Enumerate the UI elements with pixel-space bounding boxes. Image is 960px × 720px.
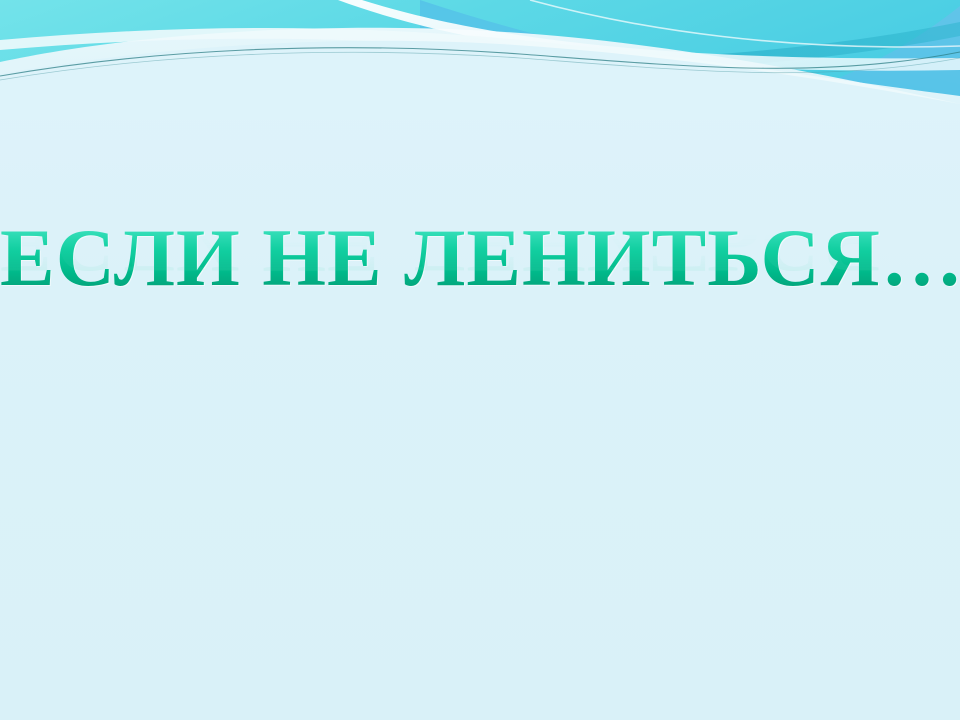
wave-teal-stroke <box>250 22 960 74</box>
wave-white-ribbon-lower <box>0 28 960 106</box>
wave-white-ribbon-upper <box>338 0 960 71</box>
wave-banner-svg <box>0 0 960 120</box>
wave-base-band <box>0 0 960 120</box>
slide-canvas: ЕСЛИ НЕ ЛЕНИТЬСЯ… ЕСЛИ НЕ ЛЕНИТЬСЯ… <box>0 0 960 720</box>
wave-right-blue <box>420 0 960 120</box>
slide-title-block: ЕСЛИ НЕ ЛЕНИТЬСЯ… ЕСЛИ НЕ ЛЕНИТЬСЯ… <box>0 214 960 364</box>
page-title-reflection: ЕСЛИ НЕ ЛЕНИТЬСЯ… <box>0 200 960 288</box>
wave-body-overlay <box>0 41 960 120</box>
wave-pale-body <box>0 28 960 120</box>
wave-hairline-secondary <box>0 52 960 80</box>
wave-highlight-edge <box>530 0 960 47</box>
wave-hairline-primary <box>0 48 960 76</box>
header-wave-decoration <box>0 0 960 120</box>
